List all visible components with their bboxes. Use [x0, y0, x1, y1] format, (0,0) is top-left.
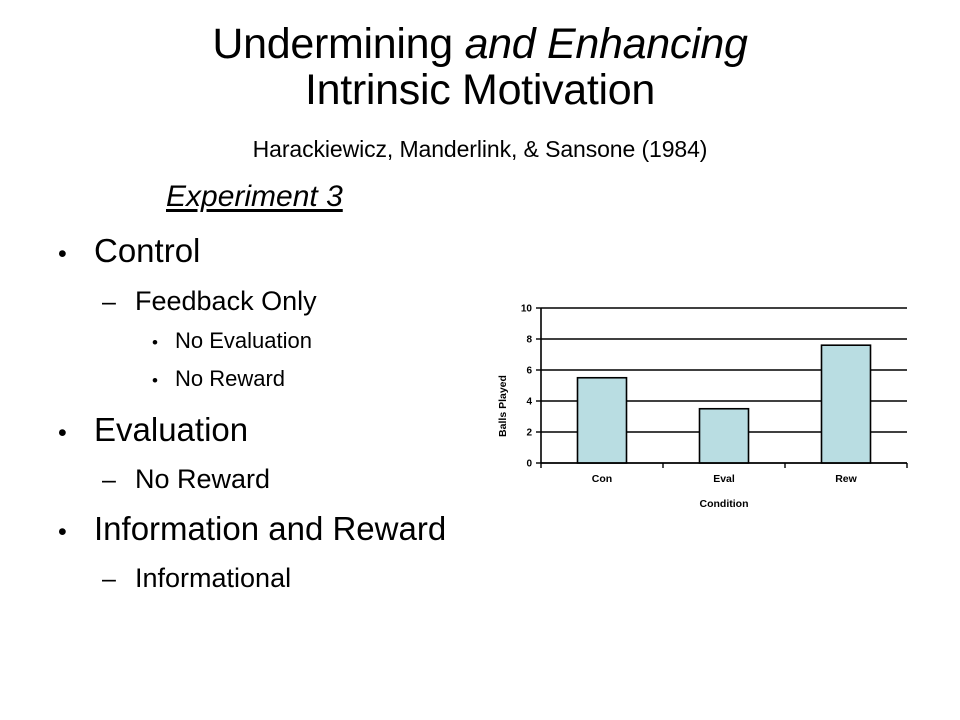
list-item: • No Evaluation	[152, 328, 312, 354]
bar	[700, 409, 749, 463]
list-item: – Feedback Only	[102, 286, 317, 317]
list-item: • Evaluation	[58, 411, 248, 449]
slide-title: Undermining and Enhancing Intrinsic Moti…	[0, 22, 960, 113]
list-item-label: Feedback Only	[135, 286, 317, 317]
slide-canvas: Undermining and Enhancing Intrinsic Moti…	[0, 0, 960, 720]
list-item-label: No Reward	[175, 366, 285, 392]
chart-y-tick-labels: 0246810	[521, 304, 533, 470]
list-item: • Control	[58, 232, 200, 270]
experiment-heading: Experiment 3	[166, 180, 343, 214]
bullet-marker-icon: •	[152, 371, 175, 391]
bar-chart: 0246810 ConEvalRew Condition Balls Playe…	[496, 296, 916, 511]
y-tick-label: 10	[521, 304, 533, 315]
x-tick-label: Con	[592, 473, 612, 485]
bar	[578, 378, 627, 463]
title-italic-part: and Enhancing	[465, 20, 748, 68]
y-tick-label: 0	[526, 459, 532, 470]
title-regular-part: Undermining	[212, 20, 464, 68]
x-tick-label: Rew	[835, 473, 857, 485]
y-tick-label: 4	[526, 397, 532, 408]
bar-chart-svg: 0246810 ConEvalRew Condition Balls Playe…	[496, 296, 916, 511]
list-item-label: Evaluation	[94, 411, 248, 449]
chart-y-axis-title: Balls Played	[497, 375, 509, 437]
citation-text: Harackiewicz, Manderlink, & Sansone (198…	[0, 136, 960, 163]
list-item: – No Reward	[102, 464, 270, 495]
list-item-label: Information and Reward	[94, 510, 446, 548]
list-item-label: Control	[94, 232, 200, 270]
chart-x-axis-title: Condition	[700, 498, 749, 510]
dash-marker-icon: –	[102, 565, 135, 594]
title-line-2: Intrinsic Motivation	[0, 68, 960, 114]
bullet-marker-icon: •	[152, 333, 175, 353]
list-item: • Information and Reward	[58, 510, 446, 548]
title-line-1: Undermining and Enhancing	[0, 22, 960, 68]
list-item-label: No Reward	[135, 464, 270, 495]
chart-bars	[578, 345, 871, 463]
y-tick-label: 8	[526, 335, 532, 346]
bullet-marker-icon: •	[58, 518, 94, 547]
bar	[822, 345, 871, 463]
bullet-marker-icon: •	[58, 419, 94, 448]
dash-marker-icon: –	[102, 466, 135, 495]
bullet-marker-icon: •	[58, 240, 94, 269]
y-tick-label: 2	[526, 428, 532, 439]
list-item: • No Reward	[152, 366, 285, 392]
list-item-label: No Evaluation	[175, 328, 312, 354]
list-item: – Informational	[102, 563, 291, 594]
x-tick-label: Eval	[713, 473, 735, 485]
y-tick-label: 6	[526, 366, 532, 377]
dash-marker-icon: –	[102, 288, 135, 317]
chart-x-tick-labels: ConEvalRew	[592, 473, 858, 485]
list-item-label: Informational	[135, 563, 291, 594]
